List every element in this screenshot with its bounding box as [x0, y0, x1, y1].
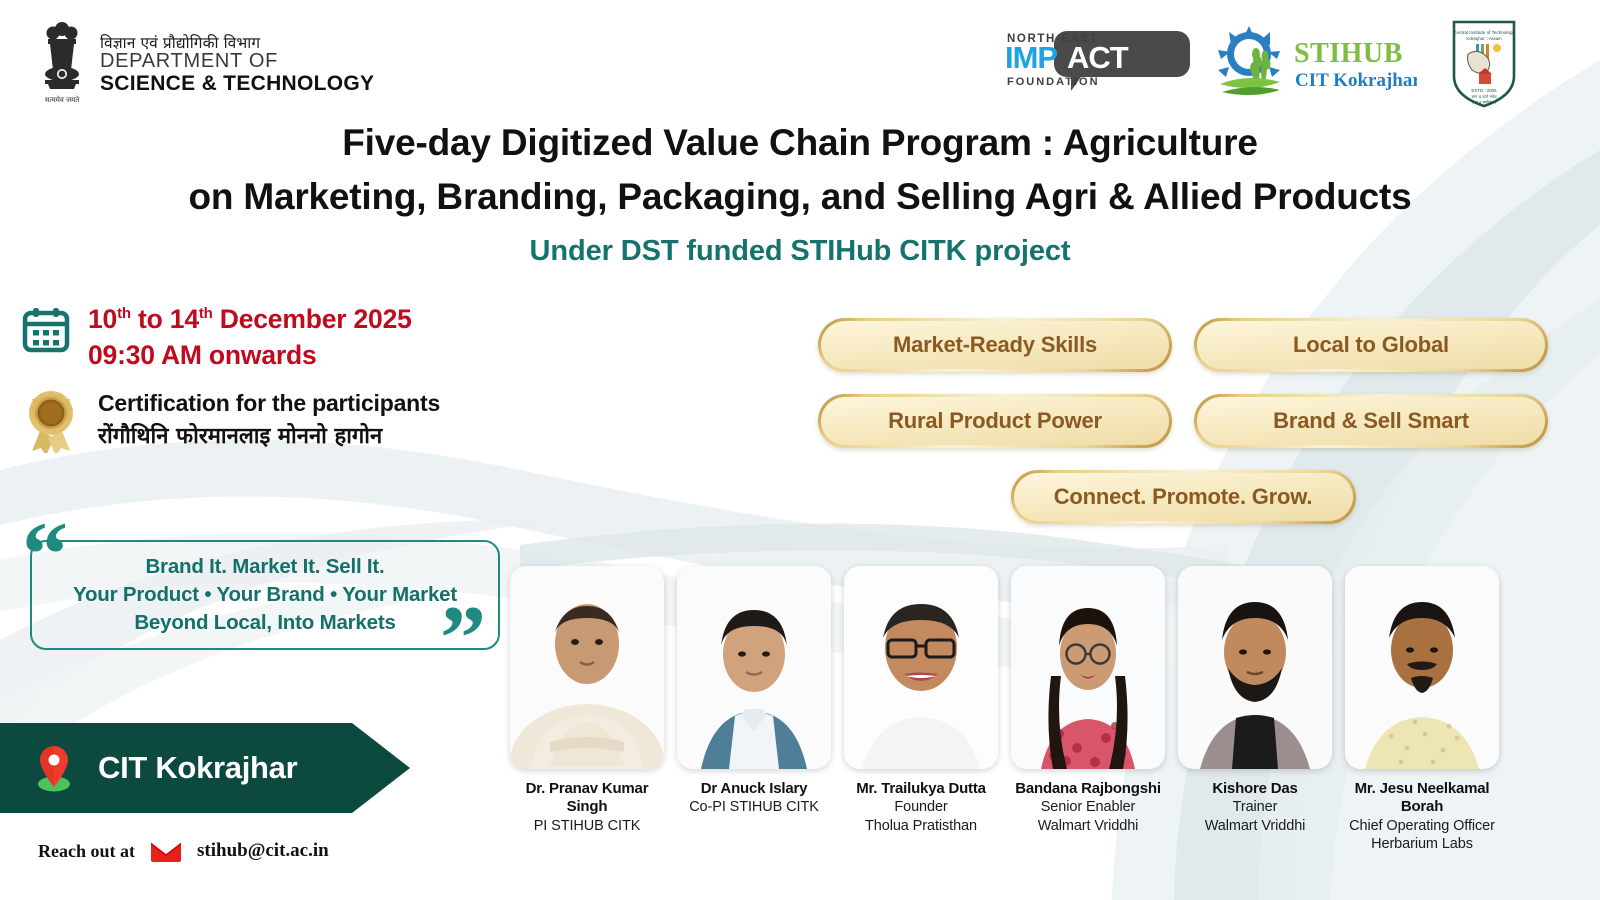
- quote-open-mark: “: [22, 508, 65, 600]
- speaker-portrait-photo: [1345, 566, 1499, 769]
- dst-hindi-line: विज्ञान एवं प्रौद्योगिकी विभाग: [100, 35, 374, 52]
- award-badge-icon: [22, 389, 80, 453]
- certification-text-bodo: रोंगौथिनि फोरमानलाइ मोननो हागोन: [98, 420, 440, 450]
- speaker-photo-card: [1178, 566, 1332, 769]
- speaker-role-line-1: Founder: [894, 798, 947, 817]
- speaker-name: Dr Anuck Islary: [701, 780, 808, 798]
- pill-local-to-global[interactable]: Local to Global: [1194, 318, 1548, 372]
- date-time-row: 10th to 14th December 2025 09:30 AM onwa…: [22, 302, 582, 373]
- quote-line-2: Your Product • Your Brand • Your Market: [73, 581, 457, 609]
- date-day-join: to 14: [131, 304, 199, 334]
- pill-row-1: Market-Ready Skills Local to Global: [818, 318, 1548, 372]
- contact-label: Reach out at: [38, 841, 135, 862]
- speaker-card: Mr. Trailukya Dutta Founder Tholua Prati…: [844, 566, 998, 854]
- calendar-icon: [22, 306, 70, 354]
- certification-text-en: Certification for the participants: [98, 387, 440, 420]
- speaker-role-line-1: Co-PI STIHUB CITK: [689, 798, 819, 817]
- pill-row-2: Rural Product Power Brand & Sell Smart: [818, 394, 1548, 448]
- stihub-sub-wordmark: CIT Kokrajhar: [1295, 70, 1417, 91]
- speaker-portrait-photo: [844, 566, 998, 769]
- event-time: 09:30 AM onwards: [88, 338, 412, 374]
- speaker-role-line-1: Chief Operating Officer: [1349, 817, 1495, 836]
- dst-department-line: DEPARTMENT OF: [100, 51, 374, 73]
- impact-bottom-label: FOUNDATION: [1007, 76, 1100, 88]
- impact-act-label: ACT: [1067, 40, 1129, 75]
- contact-email[interactable]: stihub@cit.ac.in: [197, 840, 329, 862]
- speaker-name: Mr. Jesu Neelkamal Borah: [1345, 780, 1499, 817]
- speaker-card: Mr. Jesu Neelkamal Borah Chief Operating…: [1345, 566, 1499, 854]
- event-info-block: 10th to 14th December 2025 09:30 AM onwa…: [22, 302, 582, 467]
- speaker-role-line-2: Walmart Vriddhi: [1038, 817, 1139, 836]
- title-line-2: on Marketing, Branding, Packaging, and S…: [0, 178, 1600, 215]
- title-subtitle: Under DST funded STIHub CITK project: [0, 235, 1600, 268]
- pill-label: Local to Global: [1197, 321, 1545, 369]
- crest-sub-line: Kokrajhar :: Assam: [1466, 36, 1502, 41]
- event-date: 10th to 14th December 2025: [88, 302, 412, 338]
- ashoka-emblem-icon: सत्यमेव जयते: [36, 22, 88, 108]
- pill-label: Rural Product Power: [821, 397, 1169, 445]
- speaker-card: Bandana Rajbongshi Senior Enabler Walmar…: [1011, 566, 1165, 854]
- date-ord-1: th: [117, 305, 131, 322]
- speaker-name: Dr. Pranav Kumar Singh: [510, 780, 664, 817]
- wheat-stalk-icon: [1250, 48, 1271, 82]
- title-line-1: Five-day Digitized Value Chain Program :…: [0, 124, 1600, 161]
- tagline-quote-text: Brand It. Market It. Sell It. Your Produ…: [73, 553, 457, 638]
- impact-imp-label: IMP: [1005, 40, 1057, 75]
- speaker-photo-card: [510, 566, 664, 769]
- speaker-photo-card: [844, 566, 998, 769]
- tagline-quote-box: Brand It. Market It. Sell It. Your Produ…: [30, 540, 500, 650]
- speaker-photo-card: [1011, 566, 1165, 769]
- poster-header: सत्यमेव जयते विज्ञान एवं प्रौद्योगिकी वि…: [0, 0, 1600, 118]
- date-ord-2: th: [199, 305, 213, 322]
- speakers-row: Dr. Pranav Kumar Singh PI STIHUB CITK Dr…: [510, 566, 1592, 854]
- north-east-impact-foundation-logo: NORTH-EAST IMP ACT FOUNDATION: [1005, 25, 1190, 95]
- pill-row-3: Connect. Promote. Grow.: [818, 470, 1548, 524]
- crest-top-line: Central Institute of Technology: [1453, 30, 1515, 35]
- stihub-wordmark: STIHUB: [1294, 38, 1403, 69]
- speaker-role-line-2: Tholua Pratisthan: [865, 817, 977, 836]
- speaker-portrait-photo: [510, 566, 664, 769]
- speaker-role-line-1: PI STIHUB CITK: [534, 817, 641, 836]
- speaker-role-line-1: Senior Enabler: [1041, 798, 1136, 817]
- pill-connect-promote-grow[interactable]: Connect. Promote. Grow.: [1011, 470, 1356, 524]
- speaker-card: Kishore Das Trainer Walmart Vriddhi: [1178, 566, 1332, 854]
- speaker-card: Dr. Pranav Kumar Singh PI STIHUB CITK: [510, 566, 664, 854]
- emblem-motto: सत्यमेव जयते: [45, 95, 80, 104]
- speaker-card: Dr Anuck Islary Co-PI STIHUB CITK: [677, 566, 831, 854]
- speaker-portrait-photo: [1178, 566, 1332, 769]
- location-pin-icon: [32, 744, 76, 792]
- speaker-role-line-2: Herbarium Labs: [1371, 835, 1473, 854]
- envelope-icon: [151, 841, 181, 862]
- sun-rays-icon: [1218, 26, 1280, 77]
- speaker-photo-card: [677, 566, 831, 769]
- pill-label: Market-Ready Skills: [821, 321, 1169, 369]
- speaker-name: Kishore Das: [1212, 780, 1297, 798]
- speaker-photo-card: [1345, 566, 1499, 769]
- poster-title-block: Five-day Digitized Value Chain Program :…: [0, 124, 1600, 268]
- quote-line-1: Brand It. Market It. Sell It.: [73, 553, 457, 581]
- speaker-name: Mr. Trailukya Dutta: [856, 780, 986, 798]
- date-month-year: December 2025: [213, 304, 412, 334]
- stihub-cit-kokrajhar-logo: STIHUB CIT Kokrajhar: [1212, 20, 1417, 102]
- pill-brand-and-sell-smart[interactable]: Brand & Sell Smart: [1194, 394, 1548, 448]
- speaker-name: Bandana Rajbongshi: [1015, 780, 1161, 798]
- speaker-role-line-1: Trainer: [1233, 798, 1278, 817]
- quote-close-mark: ”: [440, 592, 483, 684]
- speaker-portrait-photo: [677, 566, 831, 769]
- crest-estd-label: ESTD : 2006: [1471, 88, 1497, 93]
- pill-label: Brand & Sell Smart: [1197, 397, 1545, 445]
- venue-name-label: CIT Kokrajhar: [98, 750, 297, 786]
- certification-row: Certification for the participants रोंगौ…: [22, 387, 582, 453]
- pill-rural-product-power[interactable]: Rural Product Power: [818, 394, 1172, 448]
- dst-logo: सत्यमेव जयते विज्ञान एवं प्रौद्योगिकी वि…: [36, 22, 374, 108]
- venue-banner: CIT Kokrajhar: [0, 723, 410, 813]
- speaker-role-line-2: Walmart Vriddhi: [1205, 817, 1306, 836]
- dst-science-technology-line: SCIENCE & TECHNOLOGY: [100, 73, 374, 96]
- highlight-pills-group: Market-Ready Skills Local to Global Rura…: [818, 318, 1548, 524]
- speaker-portrait-photo: [1011, 566, 1165, 769]
- cit-kokrajhar-crest-icon: Central Institute of Technology Kokrajha…: [1448, 18, 1520, 110]
- pill-label: Connect. Promote. Grow.: [1014, 473, 1353, 521]
- quote-line-3: Beyond Local, Into Markets: [73, 609, 457, 637]
- pill-market-ready-skills[interactable]: Market-Ready Skills: [818, 318, 1172, 372]
- date-day-start: 10: [88, 304, 117, 334]
- contact-row: Reach out at stihub@cit.ac.in: [38, 840, 329, 862]
